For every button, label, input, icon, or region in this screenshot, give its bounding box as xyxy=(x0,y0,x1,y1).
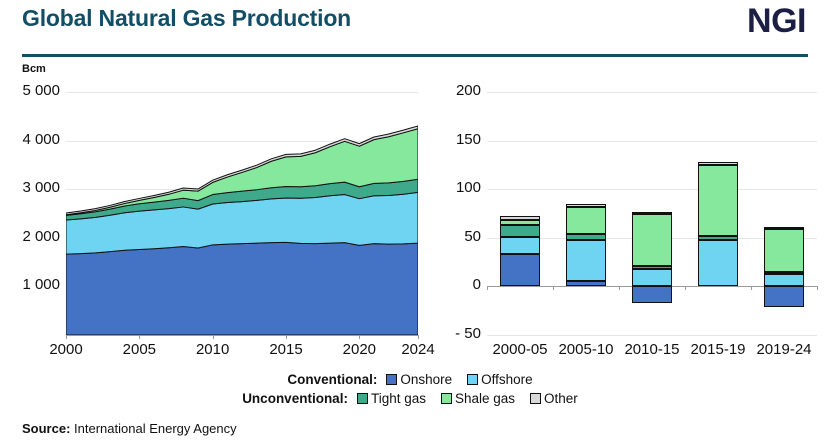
bar-x-tickmark xyxy=(619,286,620,290)
bar-segment-offshore xyxy=(566,240,606,281)
page-title: Global Natural Gas Production xyxy=(22,5,351,32)
bar-gridline xyxy=(487,92,817,93)
bar-gridline xyxy=(487,189,817,190)
bar-gridline xyxy=(487,141,817,142)
area-x-tickmark xyxy=(139,335,140,339)
area-y-tick-label: 2 000 xyxy=(4,228,60,245)
bar-segment-tight-gas xyxy=(764,272,804,274)
legend-swatch-other xyxy=(530,393,541,404)
bar-segment-offshore xyxy=(500,237,540,254)
bar-segment-tight-gas xyxy=(698,236,738,240)
bar-segment-other xyxy=(632,212,672,214)
legend-label: Tight gas xyxy=(371,391,426,406)
bar-segment-shale-gas xyxy=(566,207,606,234)
bar-gridline xyxy=(487,335,817,336)
chart-legend: Conventional:OnshoreOffshoreUnconvention… xyxy=(0,370,828,408)
area-x-tickmark xyxy=(418,335,419,339)
bar-x-tickmark xyxy=(685,286,686,290)
legend-swatch-offshore xyxy=(467,374,478,385)
bar-segment-onshore xyxy=(632,286,672,303)
bar-x-tickmark xyxy=(553,286,554,290)
bar-y-tick-label: 150 xyxy=(429,131,481,148)
bar-y-tick-label: 50 xyxy=(429,228,481,245)
area-x-tick-label: 2000 xyxy=(31,341,101,358)
area-series-onshore xyxy=(66,242,418,335)
area-y-tick-label: 5 000 xyxy=(4,82,60,99)
legend-label: Other xyxy=(544,391,578,406)
bar-segment-other xyxy=(500,216,540,220)
bar-segment-shale-gas xyxy=(764,229,804,272)
bar-y-tick-label: - 50 xyxy=(429,325,481,342)
legend-swatch-onshore xyxy=(386,374,397,385)
legend-item[interactable]: Other xyxy=(530,391,578,406)
area-x-tick-label: 2024 xyxy=(383,341,453,358)
bar-segment-tight-gas xyxy=(500,225,540,237)
area-x-tick-label: 2015 xyxy=(251,341,321,358)
legend-label: Onshore xyxy=(400,372,452,387)
area-chart-svg xyxy=(66,92,418,335)
area-y-tick-label: 3 000 xyxy=(4,179,60,196)
legend-swatch-shale-gas xyxy=(441,393,452,404)
bar-segment-onshore xyxy=(566,281,606,287)
legend-item[interactable]: Onshore xyxy=(386,372,452,387)
bar-segment-offshore xyxy=(698,240,738,287)
bar-x-tick-label: 2019-24 xyxy=(744,341,824,358)
area-x-tickmark xyxy=(359,335,360,339)
bar-segment-onshore xyxy=(764,286,804,306)
legend-row: Conventional:OnshoreOffshore xyxy=(0,370,828,389)
bar-segment-other xyxy=(698,162,738,165)
page-header: Global Natural Gas Production NGI xyxy=(0,0,828,56)
header-divider xyxy=(22,54,808,57)
bar-segment-shale-gas xyxy=(500,220,540,225)
bar-segment-tight-gas xyxy=(632,266,672,269)
legend-label: Offshore xyxy=(481,372,533,387)
bar-segment-other xyxy=(764,227,804,229)
legend-item[interactable]: Offshore xyxy=(467,372,533,387)
area-y-tick-label: 1 000 xyxy=(4,276,60,293)
legend-row: Unconventional:Tight gasShale gasOther xyxy=(0,389,828,408)
source-note: Source: International Energy Agency xyxy=(22,421,237,436)
bar-segment-offshore xyxy=(632,269,672,286)
area-x-tick-label: 2010 xyxy=(178,341,248,358)
area-chart-production: 5 0004 0003 0002 0001 000200020052010201… xyxy=(66,92,418,335)
bar-segment-tight-gas xyxy=(566,234,606,240)
area-x-tickmark xyxy=(66,335,67,339)
legend-group-label: Conventional: xyxy=(287,372,377,387)
legend-item[interactable]: Tight gas xyxy=(357,391,426,406)
bar-y-tick-label: 100 xyxy=(429,179,481,196)
source-prefix: Source: xyxy=(22,421,70,436)
bar-segment-shale-gas xyxy=(698,165,738,236)
bar-segment-offshore xyxy=(764,274,804,287)
ngi-logo: NGI xyxy=(747,2,806,41)
bar-segment-onshore xyxy=(500,254,540,286)
source-text: International Energy Agency xyxy=(74,421,237,436)
bar-segment-other xyxy=(566,204,606,207)
bar-chart-production-change: 200150100500- 502000-052005-102010-15201… xyxy=(487,92,817,335)
area-x-tickmark xyxy=(286,335,287,339)
y-axis-unit-label: Bcm xyxy=(22,63,46,75)
legend-item[interactable]: Shale gas xyxy=(441,391,515,406)
area-x-axis-line xyxy=(66,335,418,336)
bar-x-tickmark xyxy=(751,286,752,290)
area-x-tickmark xyxy=(213,335,214,339)
bar-x-tickmark xyxy=(817,286,818,290)
legend-label: Shale gas xyxy=(455,391,515,406)
bar-x-tickmark xyxy=(487,286,488,290)
legend-swatch-tight-gas xyxy=(357,393,368,404)
legend-group-label: Unconventional: xyxy=(242,391,348,406)
bar-segment-shale-gas xyxy=(632,214,672,266)
area-x-tick-label: 2005 xyxy=(104,341,174,358)
bar-y-tick-label: 0 xyxy=(429,276,481,293)
area-y-tick-label: 4 000 xyxy=(4,131,60,148)
bar-y-tick-label: 200 xyxy=(429,82,481,99)
